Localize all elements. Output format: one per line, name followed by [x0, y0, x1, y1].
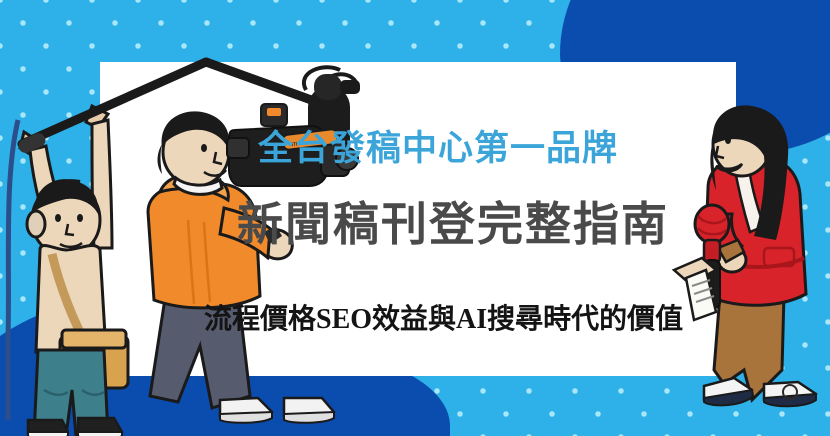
video-camera: m [225, 104, 355, 214]
banner-root: m [0, 0, 830, 436]
svg-text:m: m [291, 141, 298, 149]
reporter-shoes [700, 372, 830, 412]
cameraman-shoes [216, 392, 346, 428]
reporter-notepad [672, 254, 728, 324]
